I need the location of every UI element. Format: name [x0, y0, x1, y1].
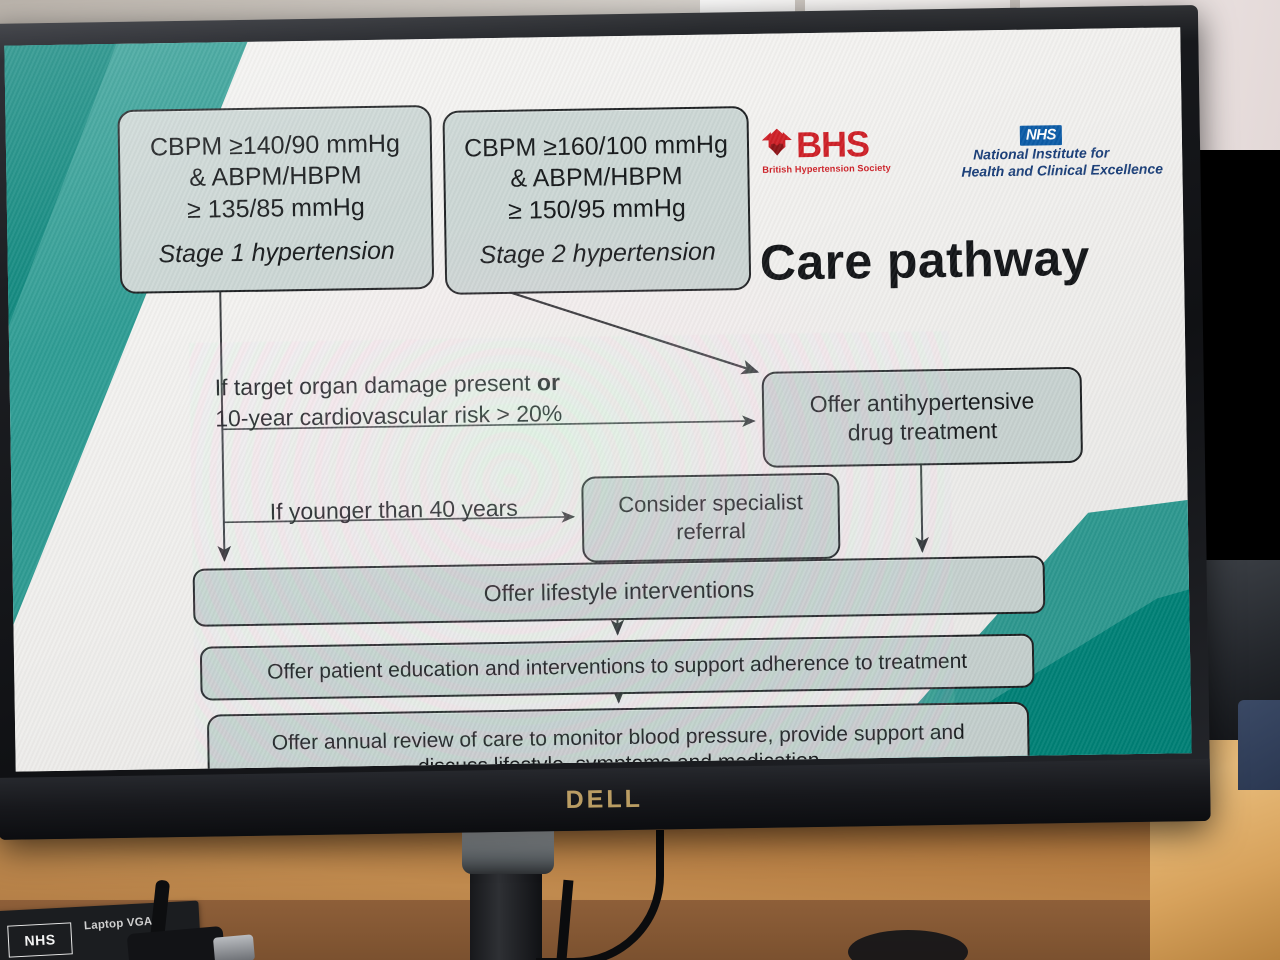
- stage1-line2: & ABPM/HBPM: [189, 160, 362, 194]
- box-consider-specialist-referral[interactable]: Consider specialist referral: [581, 473, 840, 563]
- monitor-screen: CBPM ≥140/90 mmHg & ABPM/HBPM ≥ 135/85 m…: [4, 27, 1191, 771]
- photo-scene: NHS Laptop VGA: [0, 0, 1280, 960]
- drug-line2: drug treatment: [848, 416, 998, 447]
- nice-line-1: National Institute for: [961, 144, 1121, 163]
- box-stage-2-hypertension[interactable]: CBPM ≥160/100 mmHg & ABPM/HBPM ≥ 150/95 …: [442, 106, 751, 295]
- bhs-heart-arrow-icon: [762, 128, 793, 162]
- slide-title: Care pathway: [759, 229, 1090, 292]
- box-offer-lifestyle-interventions[interactable]: Offer lifestyle interventions: [193, 555, 1046, 626]
- specialist-line1: Consider specialist: [618, 489, 803, 520]
- stage2-line1: CBPM ≥160/100 mmHg: [464, 129, 728, 165]
- condition-or: or: [537, 369, 560, 395]
- stage1-line1: CBPM ≥140/90 mmHg: [150, 128, 400, 163]
- bhs-logo: BHS British Hypertension Society: [762, 127, 908, 175]
- drug-line1: Offer antihypertensive: [810, 387, 1035, 419]
- specialist-line2: referral: [676, 517, 746, 546]
- bhs-subtitle: British Hypertension Society: [762, 163, 907, 175]
- condition-organ-damage-text-b: 10-year cardiovascular risk > 20%: [215, 400, 562, 431]
- dell-monitor: CBPM ≥140/90 mmHg & ABPM/HBPM ≥ 135/85 m…: [0, 5, 1211, 840]
- dell-logo: DELL: [565, 784, 643, 814]
- condition-younger-than-40: If younger than 40 years: [269, 495, 517, 526]
- condition-organ-damage-text-a: If target organ damage present: [215, 369, 538, 400]
- vga-connector-screw: [213, 934, 255, 960]
- stage1-label: Stage 1 hypertension: [158, 236, 395, 271]
- nhs-box-icon: NHS: [1020, 125, 1062, 146]
- port-panel-nhs-label: NHS: [7, 922, 73, 957]
- box-offer-patient-education[interactable]: Offer patient education and intervention…: [200, 634, 1035, 701]
- dell-logo-text: DELL: [565, 784, 643, 813]
- box-stage-1-hypertension[interactable]: CBPM ≥140/90 mmHg & ABPM/HBPM ≥ 135/85 m…: [117, 105, 434, 294]
- stage2-line3: ≥ 150/95 mmHg: [508, 193, 686, 227]
- box-offer-drug-treatment[interactable]: Offer antihypertensive drug treatment: [762, 367, 1083, 468]
- stage2-label: Stage 2 hypertension: [479, 237, 716, 272]
- nice-logo: NHS National Institute for Health and Cl…: [961, 124, 1122, 180]
- condition-organ-damage: If target organ damage present or 10-yea…: [215, 367, 563, 434]
- education-line1: Offer patient education and intervention…: [267, 648, 967, 685]
- bhs-wordmark: BHS: [796, 127, 870, 162]
- presentation-slide: CBPM ≥140/90 mmHg & ABPM/HBPM ≥ 135/85 m…: [4, 27, 1191, 771]
- lifestyle-line1: Offer lifestyle interventions: [483, 575, 754, 608]
- stage1-line3: ≥ 135/85 mmHg: [187, 192, 365, 226]
- chair-back: [1238, 700, 1280, 790]
- stage2-line2: & ABPM/HBPM: [510, 161, 683, 195]
- nice-line-2: Health and Clinical Excellence: [961, 161, 1121, 180]
